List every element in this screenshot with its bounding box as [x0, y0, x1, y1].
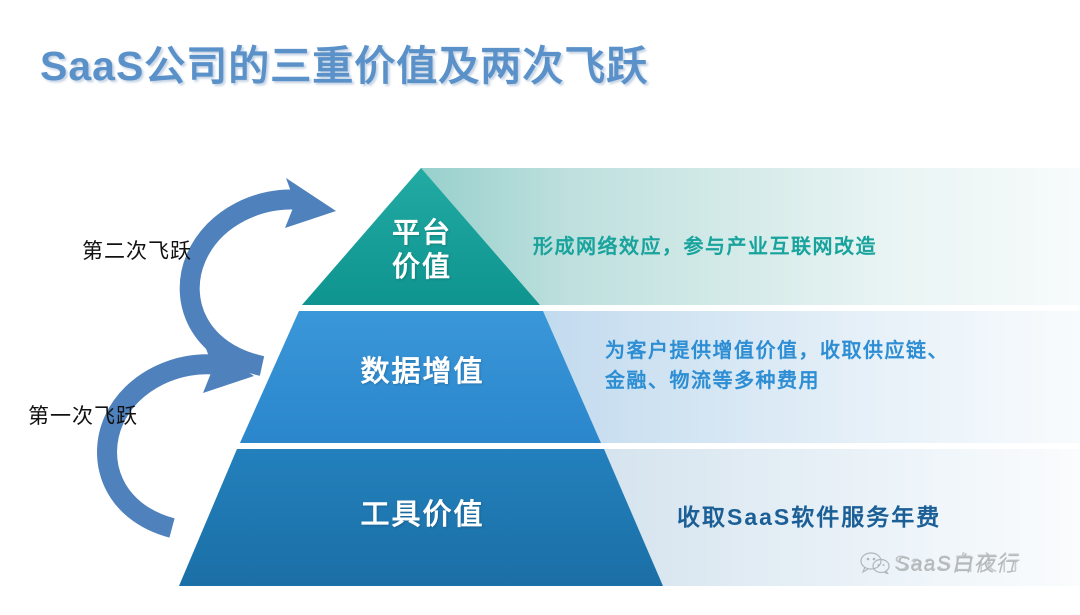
- watermark-overlay-name: SaaS白夜行: [894, 547, 1022, 577]
- watermark: SaaS白夜行 SaaS白夜行: [860, 548, 1017, 578]
- leap-label-second: 第二次飞跃: [82, 235, 192, 265]
- slide-canvas: SaaS公司的三重价值及两次飞跃: [0, 0, 1080, 615]
- tier-description-data: 为客户提供增值价值，收取供应链、 金融、物流等多种费用: [605, 336, 949, 396]
- tier-label-platform: 平台 价值: [352, 216, 492, 284]
- wechat-icon: [860, 552, 890, 574]
- tier-label-data: 数据增值: [330, 355, 515, 390]
- tier-label-tool: 工具价值: [330, 498, 515, 533]
- tier-description-tool: 收取SaaS软件服务年费: [677, 500, 941, 535]
- tier-description-platform: 形成网络效应，参与产业互联网改造: [533, 232, 877, 262]
- leap-label-first: 第一次飞跃: [28, 400, 138, 430]
